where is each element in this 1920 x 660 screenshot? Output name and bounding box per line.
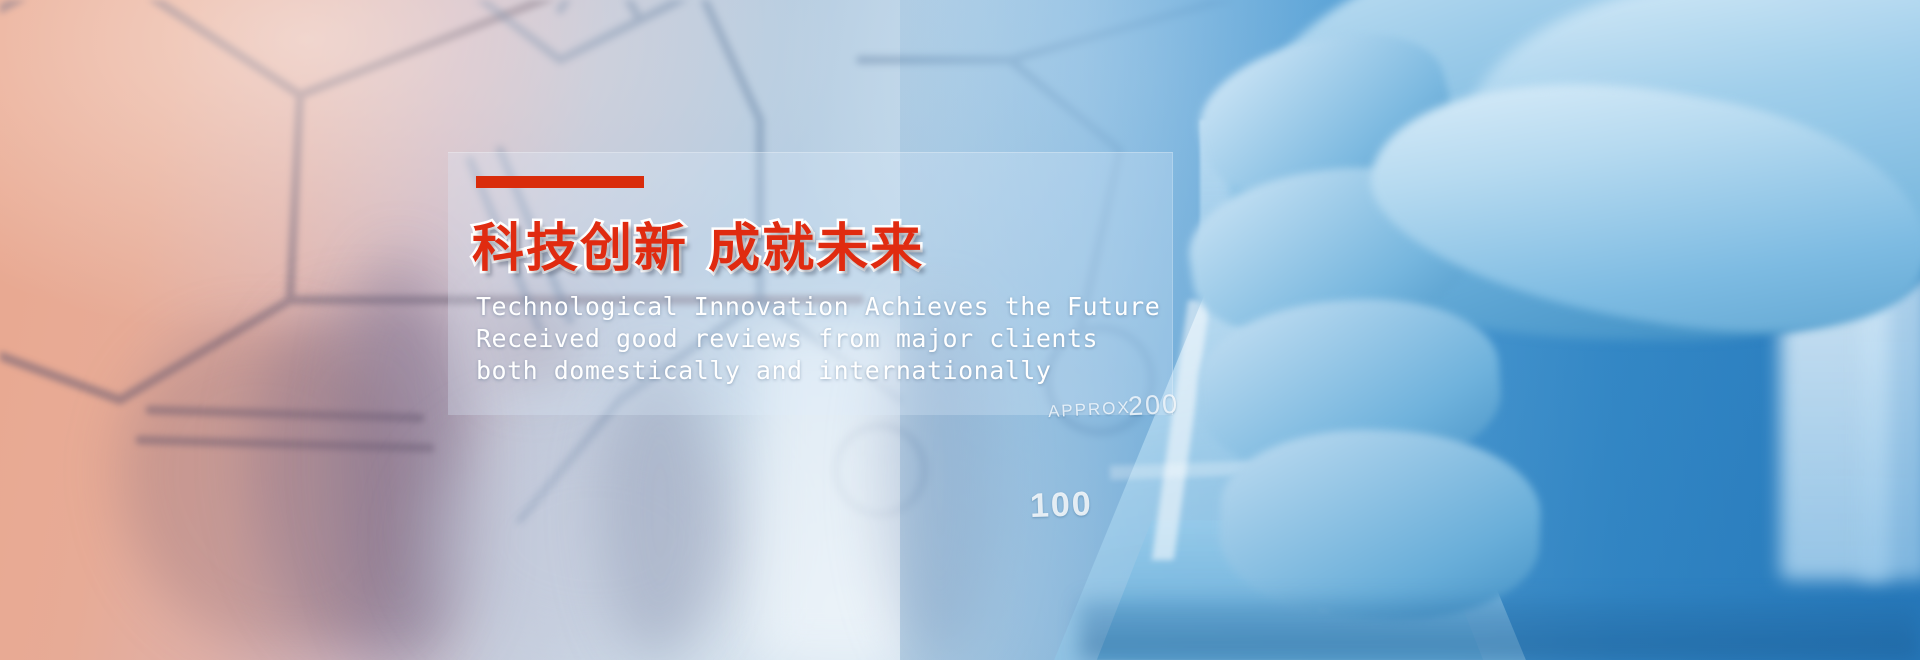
hero-banner: APPROX 200 100 科技创新 成就未来 Technological I… (0, 0, 1920, 660)
blurred-stand (340, 250, 460, 660)
subtitle-line-2: Received good reviews from major clients (476, 324, 1098, 353)
bench-shadow (1080, 600, 1920, 660)
accent-bar (476, 176, 644, 188)
subtitle-line-3: both domestically and internationally (476, 356, 1051, 385)
page-title: 科技创新 成就未来 (472, 206, 924, 281)
subtitle-line-1: Technological Innovation Achieves the Fu… (476, 292, 1160, 321)
